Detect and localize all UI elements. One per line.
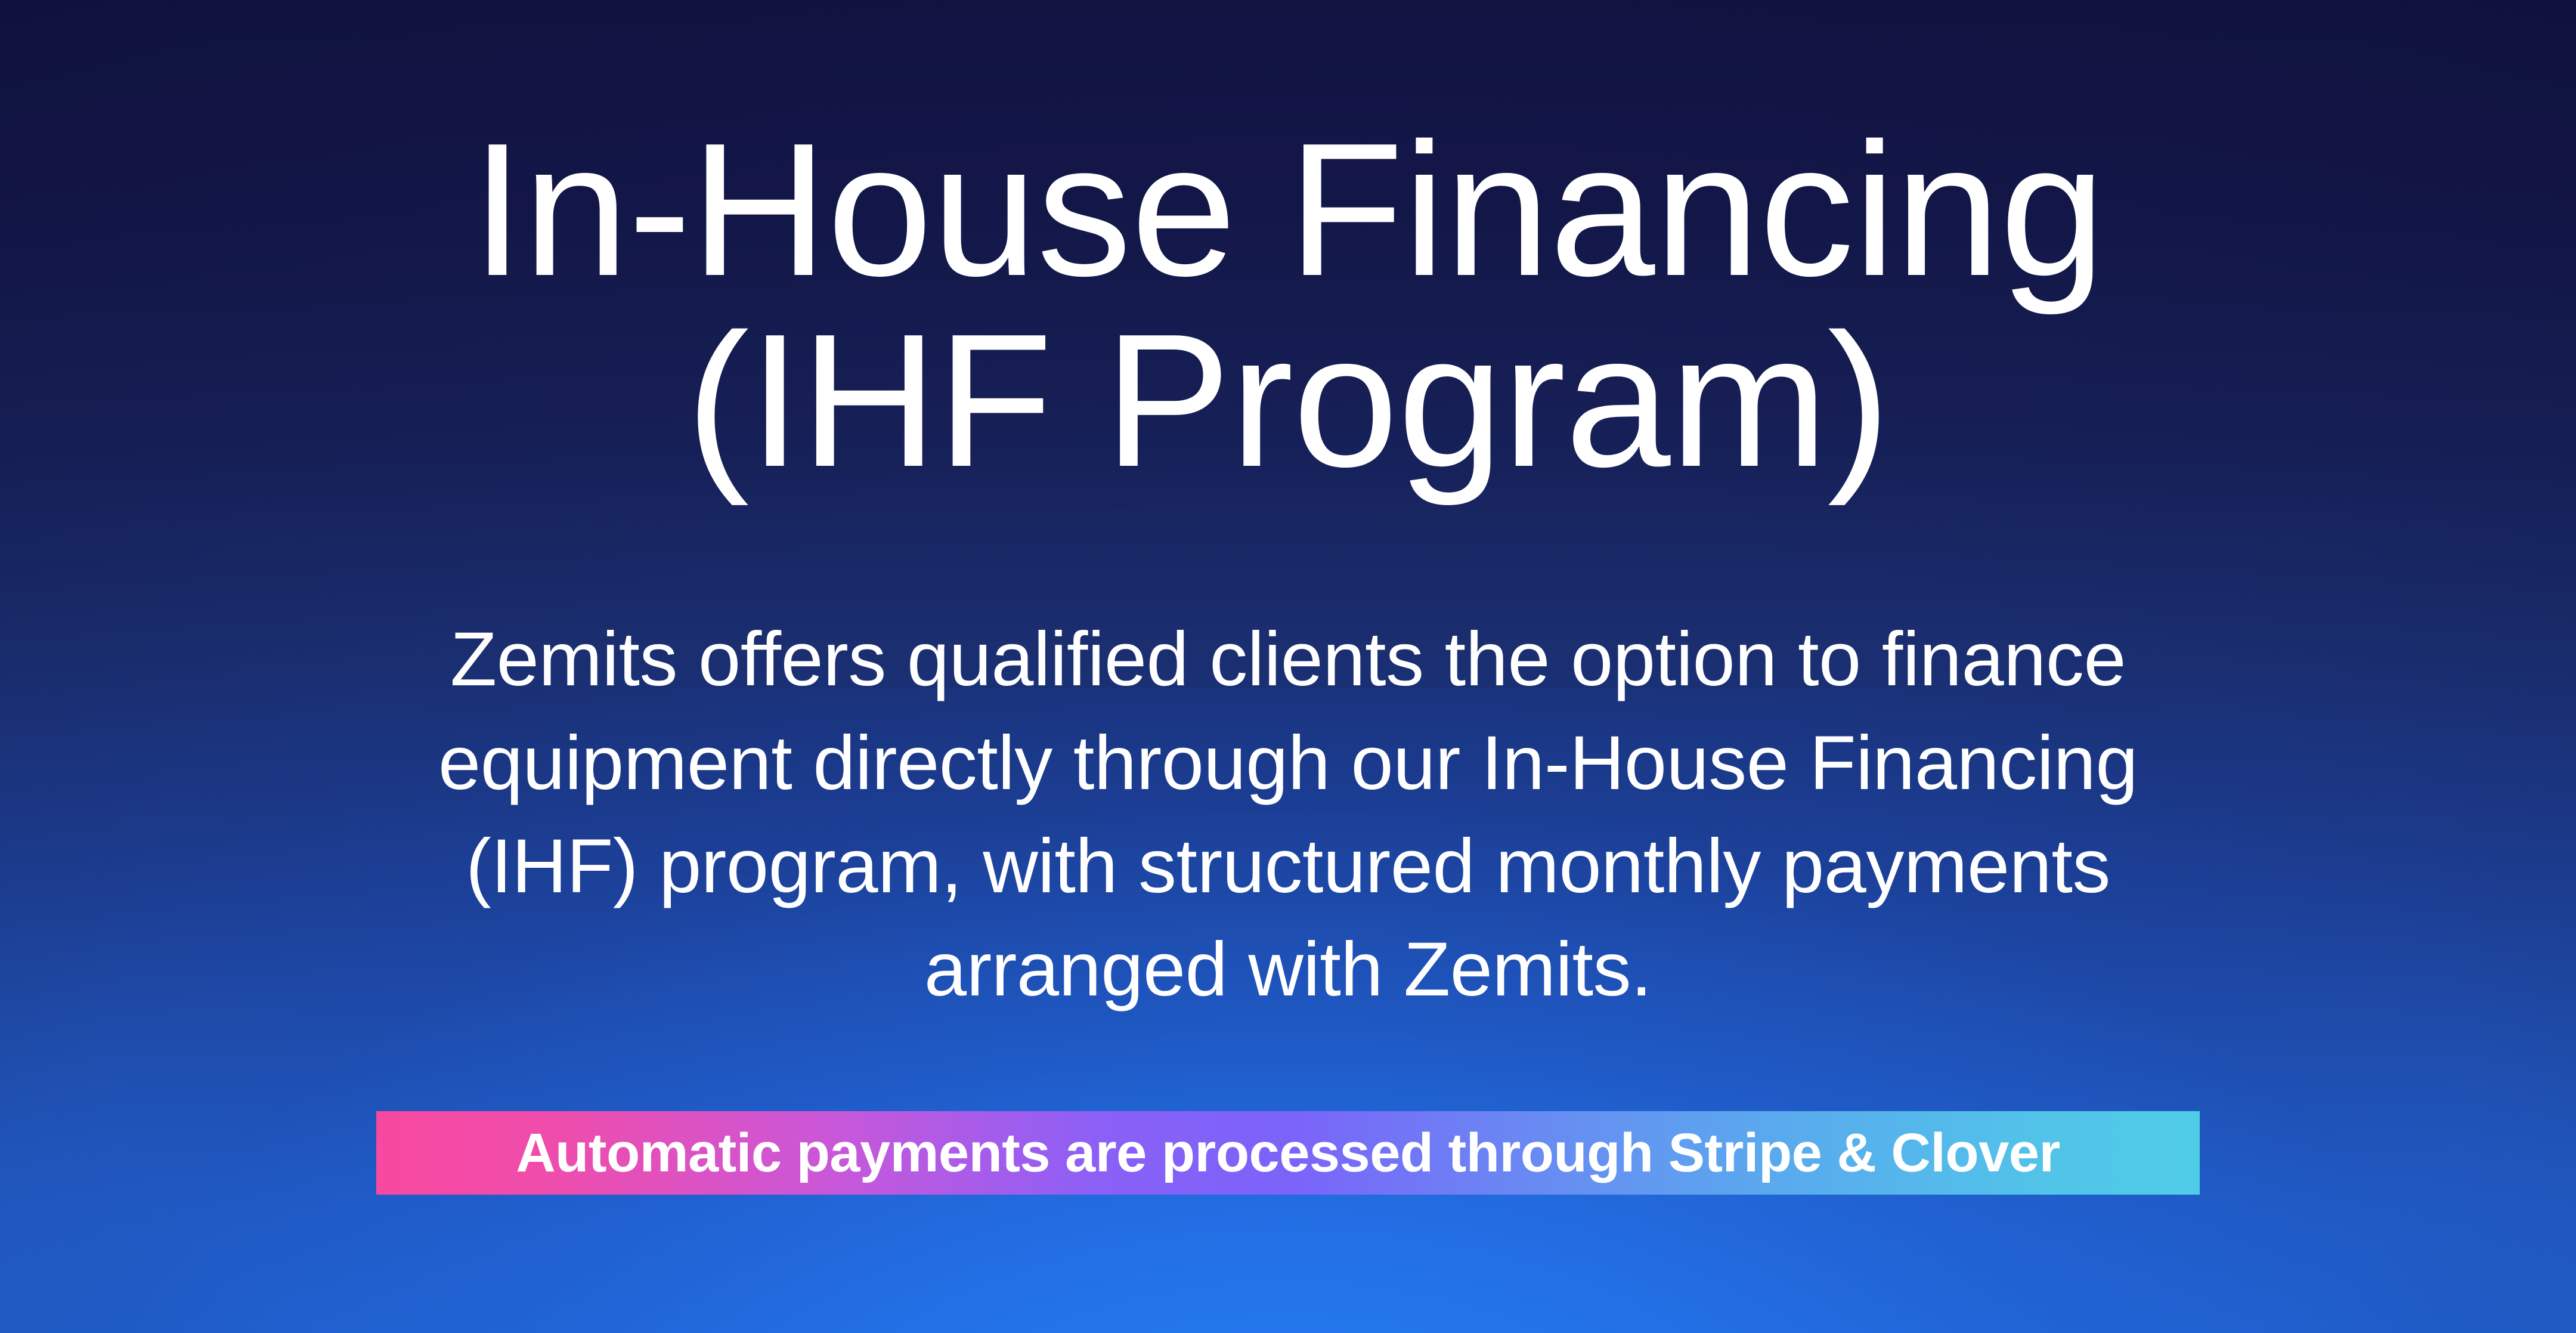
slide-content: In-House Financing (IHF Program) Zemits … (0, 0, 2576, 1333)
slide-canvas: In-House Financing (IHF Program) Zemits … (0, 0, 2576, 1333)
slide-title: In-House Financing (IHF Program) (0, 115, 2576, 496)
badge-container: Automatic payments are processed through… (0, 1111, 2576, 1195)
payment-processors-badge: Automatic payments are processed through… (376, 1111, 2200, 1195)
slide-description: Zemits offers qualified clients the opti… (376, 608, 2200, 1022)
